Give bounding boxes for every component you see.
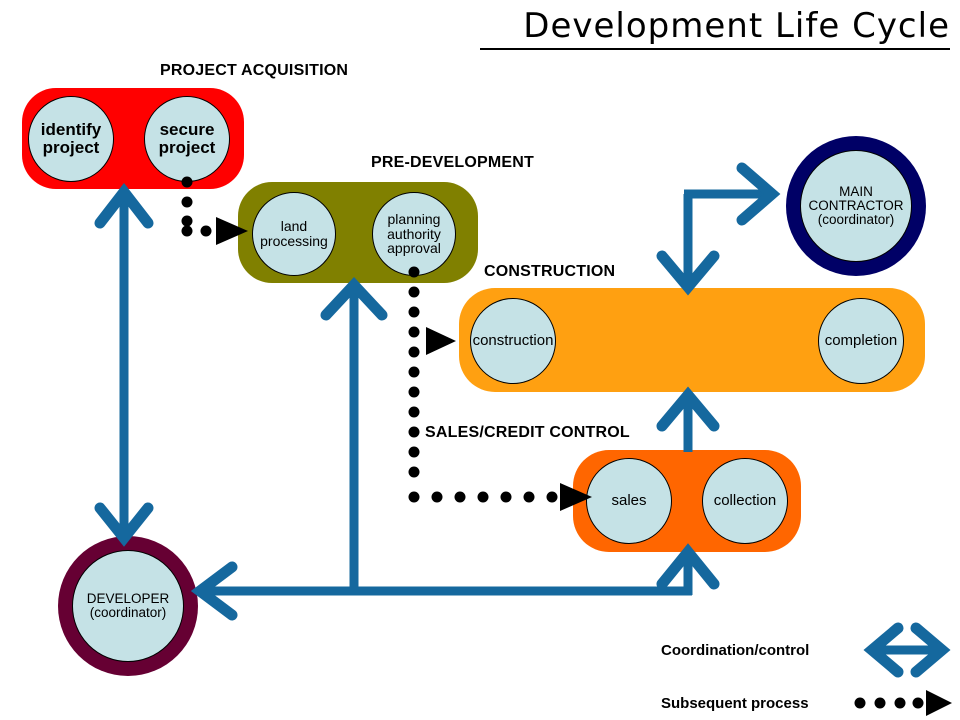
node-land-processing-line2: processing: [260, 233, 328, 249]
diagram-canvas: Development Life Cycle PROJECT ACQUISITI…: [0, 0, 960, 720]
dotted-predevelopment-to-sales: [409, 387, 593, 512]
node-land-processing-line1: land: [281, 218, 307, 234]
legend-symbol-subsequent: [855, 690, 953, 716]
node-identify-project[interactable]: identify project: [28, 96, 114, 182]
node-planning-line2: authority: [387, 226, 441, 242]
node-collection-label: collection: [714, 493, 777, 509]
arrow-sales-developer: [200, 552, 714, 595]
arrow-developer-predevelopment: [200, 285, 382, 615]
node-identify-project-line2: project: [43, 138, 100, 157]
node-planning-line3: approval: [387, 240, 441, 256]
developer-line2: (coordinator): [90, 605, 167, 620]
legend-symbol-coordination: [872, 628, 942, 672]
node-completion[interactable]: completion: [818, 298, 904, 384]
node-construction[interactable]: construction: [470, 298, 556, 384]
node-sales-label: sales: [611, 493, 646, 509]
label-sales-credit-control: SALES/CREDIT CONTROL: [425, 424, 630, 442]
node-planning-authority-approval[interactable]: planning authority approval: [372, 192, 456, 276]
main-contractor-line2: CONTRACTOR: [808, 198, 903, 213]
node-land-processing[interactable]: land processing: [252, 192, 336, 276]
label-project-acquisition: PROJECT ACQUISITION: [160, 62, 348, 80]
page-title: Development Life Cycle: [480, 6, 950, 50]
node-main-contractor[interactable]: MAIN CONTRACTOR (coordinator): [800, 150, 912, 262]
arrow-sales-construction: [662, 395, 714, 452]
label-pre-development: PRE-DEVELOPMENT: [371, 154, 534, 172]
arrow-acquisition-developer: [100, 192, 148, 538]
node-sales[interactable]: sales: [586, 458, 672, 544]
label-construction: CONSTRUCTION: [484, 263, 615, 281]
node-planning-line1: planning: [388, 211, 441, 227]
node-secure-project-line2: project: [159, 138, 216, 157]
node-secure-project-line1: secure: [160, 120, 215, 139]
node-completion-label: completion: [825, 333, 898, 349]
node-developer[interactable]: DEVELOPER (coordinator): [72, 550, 184, 662]
dotted-predevelopment-to-construction: [409, 267, 457, 378]
main-contractor-line3: (coordinator): [818, 212, 895, 227]
main-contractor-line1: MAIN: [839, 184, 873, 199]
legend-label-coordination: Coordination/control: [661, 642, 809, 659]
arrow-construction-main-contractor: [662, 168, 772, 287]
node-secure-project[interactable]: secure project: [144, 96, 230, 182]
node-identify-project-line1: identify: [41, 120, 101, 139]
developer-line1: DEVELOPER: [87, 591, 170, 606]
legend-label-subsequent: Subsequent process: [661, 695, 809, 712]
node-collection[interactable]: collection: [702, 458, 788, 544]
node-construction-label: construction: [473, 333, 554, 349]
